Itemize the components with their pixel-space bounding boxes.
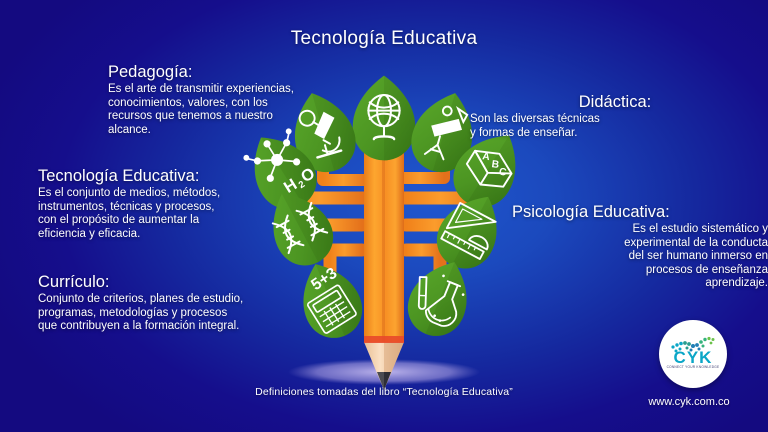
cyk-logo[interactable]: CYK CONNECT YOUR KNOWLEDGE <box>656 320 730 394</box>
definition-line: Es el conjunto de medios, métodos, <box>38 187 348 201</box>
definition-line: procesos de enseñanza <box>478 264 768 278</box>
definition-body: Son las diversas técnicas y formas de en… <box>470 113 760 140</box>
infographic-poster: H 2 O A B C <box>0 0 768 432</box>
definition-heading: Pedagogía: <box>108 62 408 82</box>
definition-line: y formas de enseñar. <box>470 127 760 141</box>
definition-line: Conjunto de criterios, planes de estudio… <box>38 293 358 307</box>
definition-heading: Psicología Educativa: <box>478 202 768 222</box>
definition-line: que contribuyen a la formación integral. <box>38 320 358 334</box>
definition-didactica: Didáctica: Son las diversas técnicas y f… <box>470 92 760 140</box>
definition-line: con el propósito de aumentar la <box>38 214 348 228</box>
page-title: Tecnología Educativa <box>0 28 768 50</box>
definition-heading: Didáctica: <box>470 92 760 112</box>
definition-body: Es el estudio sistemático y experimental… <box>478 223 768 291</box>
definition-line: conocimientos, valores, con los <box>108 97 408 111</box>
definition-line: experimental de la conducta <box>478 237 768 251</box>
definition-body: Es el conjunto de medios, métodos, instr… <box>38 187 348 241</box>
logo-tagline: CONNECT YOUR KNOWLEDGE <box>656 365 730 369</box>
definition-line: programas, metodologías y procesos <box>38 307 358 321</box>
definition-line: Es el arte de transmitir experiencias, <box>108 83 408 97</box>
definition-line: alcance. <box>108 124 408 138</box>
definition-heading: Tecnología Educativa: <box>38 166 348 186</box>
definition-line: instrumentos, técnicas y procesos, <box>38 201 348 215</box>
website-url[interactable]: www.cyk.com.co <box>610 396 768 408</box>
definition-psicologia-educativa: Psicología Educativa: Es el estudio sist… <box>478 202 768 291</box>
svg-text:B: B <box>491 159 500 171</box>
definition-curriculo: Currículo: Conjunto de criterios, planes… <box>38 272 358 334</box>
definition-heading: Currículo: <box>38 272 358 292</box>
definition-line: Es el estudio sistemático y <box>478 223 768 237</box>
definition-line: Son las diversas técnicas <box>470 113 760 127</box>
definition-line: aprendizaje. <box>478 277 768 291</box>
definition-pedagogia: Pedagogía: Es el arte de transmitir expe… <box>108 62 408 137</box>
definition-line: recursos que tenemos a nuestro <box>108 110 408 124</box>
definition-line: del ser humano inmerso en <box>478 250 768 264</box>
definition-body: Conjunto de criterios, planes de estudio… <box>38 293 358 334</box>
definition-tecnologia-educativa: Tecnología Educativa: Es el conjunto de … <box>38 166 348 241</box>
definition-line: eficiencia y eficacia. <box>38 228 348 242</box>
definition-body: Es el arte de transmitir experiencias, c… <box>108 83 408 137</box>
